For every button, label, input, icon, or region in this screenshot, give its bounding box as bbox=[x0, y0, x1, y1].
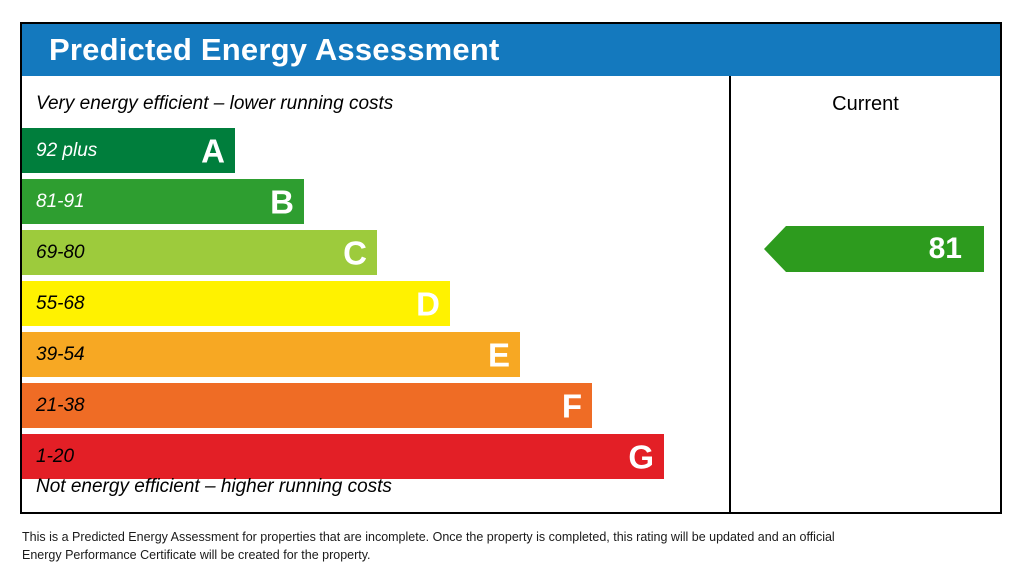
band-row-b: 81-91B bbox=[22, 179, 304, 224]
band-scale-panel: Very energy efficient – lower running co… bbox=[22, 76, 729, 512]
band-row-e: 39-54E bbox=[22, 332, 520, 377]
chart-body: Very energy efficient – lower running co… bbox=[22, 76, 1000, 512]
current-rating-panel: Current 81 bbox=[731, 76, 1000, 512]
band-row-c: 69-80C bbox=[22, 230, 377, 275]
page-title: Predicted Energy Assessment bbox=[49, 32, 500, 68]
band-range-label: 39-54 bbox=[36, 344, 85, 366]
band-range-label: 81-91 bbox=[36, 191, 85, 213]
chart-header-bar: Predicted Energy Assessment bbox=[22, 24, 1000, 76]
band-letter-label: C bbox=[343, 236, 367, 269]
band-range-label: 69-80 bbox=[36, 242, 85, 264]
band-row-f: 21-38F bbox=[22, 383, 592, 428]
band-letter-label: B bbox=[270, 185, 294, 218]
energy-assessment-chart: Predicted Energy Assessment Very energy … bbox=[20, 22, 1002, 514]
current-rating-value: 81 bbox=[929, 234, 962, 264]
band-row-g: 1-20G bbox=[22, 434, 664, 479]
band-letter-label: A bbox=[201, 134, 225, 167]
efficiency-caption-bottom: Not energy efficient – higher running co… bbox=[36, 476, 392, 498]
band-letter-label: F bbox=[562, 389, 582, 422]
band-letter-label: D bbox=[416, 287, 440, 320]
band-range-label: 21-38 bbox=[36, 395, 85, 417]
band-list: 92 plusA81-91B69-80C55-68D39-54E21-38F1-… bbox=[22, 128, 729, 485]
band-range-label: 92 plus bbox=[36, 140, 97, 162]
band-row-d: 55-68D bbox=[22, 281, 450, 326]
band-range-label: 1-20 bbox=[36, 446, 74, 468]
current-rating-row: 81 bbox=[731, 226, 1000, 272]
current-column-header: Current bbox=[731, 93, 1000, 116]
band-row-a: 92 plusA bbox=[22, 128, 235, 173]
band-letter-label: G bbox=[628, 440, 654, 473]
rating-arrow-icon: 81 bbox=[764, 226, 984, 272]
efficiency-caption-top: Very energy efficient – lower running co… bbox=[36, 93, 393, 115]
band-letter-label: E bbox=[488, 338, 510, 371]
band-range-label: 55-68 bbox=[36, 293, 85, 315]
footnote-text: This is a Predicted Energy Assessment fo… bbox=[22, 528, 842, 564]
